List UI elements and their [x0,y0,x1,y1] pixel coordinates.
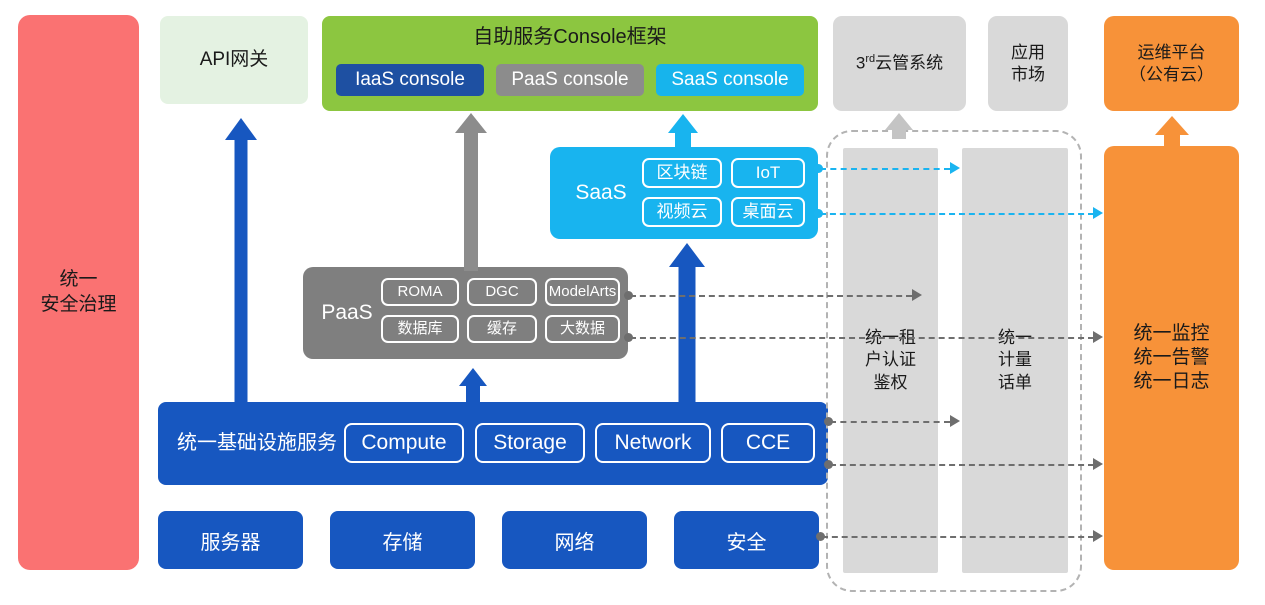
saas-service-iot[interactable]: IoT [731,158,805,188]
arrow-paas-to-console-frame [455,113,487,271]
resource-box-security[interactable]: 安全 [674,511,819,569]
resource-box-server[interactable]: 服务器 [158,511,303,569]
third-party-cloud-label: 3rd云管系统 [856,52,943,74]
connector-line-resources-to-monitoring [822,536,1094,538]
infra-service-network[interactable]: Network [595,423,711,463]
paas-service-dgc[interactable]: DGC [467,278,537,306]
iaas-console-chip[interactable]: IaaS console [336,64,484,96]
infra-service-compute[interactable]: Compute [344,423,464,463]
arrow-monitoring-to-ops-platform [1155,116,1189,148]
api-gateway-box[interactable]: API网关 [160,16,308,104]
infra-service-storage[interactable]: Storage [475,423,585,463]
paas-console-chip[interactable]: PaaS console [496,64,644,96]
infra-service-cce[interactable]: CCE [721,423,815,463]
unified-tenant-auth-column[interactable]: 统一租 户认证 鉴权 [843,148,938,573]
unified-metering-billing-column[interactable]: 统一 计量 话单 [962,148,1068,573]
unified-infrastructure-label: 统一基础设施服务 [176,402,338,485]
connector-line-saas-to-monitoring [820,213,1094,215]
saas-service-blockchain[interactable]: 区块链 [642,158,722,188]
arrow-saas-to-console-frame [668,114,698,152]
arrow-shared-services-to-third-party-cloud [885,113,913,139]
unified-infrastructure-service-box[interactable]: 统一基础设施服务 Compute Storage Network CCE [158,402,828,485]
saas-layer-label: SaaS [562,147,640,239]
resource-box-network[interactable]: 网络 [502,511,647,569]
paas-service-database[interactable]: 数据库 [381,315,459,343]
connector-arrowhead-infra-to-monitoring [1093,458,1103,470]
saas-layer-box[interactable]: SaaS 区块链 IoT 视频云 桌面云 [550,147,818,239]
console-frame-title: 自助服务Console框架 [322,25,818,51]
paas-service-cache[interactable]: 缓存 [467,315,537,343]
saas-service-video-cloud[interactable]: 视频云 [642,197,722,227]
application-market-box[interactable]: 应用 市场 [988,16,1068,111]
connector-arrowhead-paas-to-auth [912,289,922,301]
paas-layer-box[interactable]: PaaS ROMA DGC ModelArts 数据库 缓存 大数据 [303,267,628,359]
arrow-infra-to-paas [459,368,487,408]
paas-service-modelarts[interactable]: ModelArts [545,278,620,306]
unified-security-governance-box[interactable]: 统一 安全治理 [18,15,139,570]
paas-service-roma[interactable]: ROMA [381,278,459,306]
arrow-infra-to-saas [669,243,705,407]
connector-arrowhead-saas-to-monitoring [1093,207,1103,219]
connector-arrowhead-saas-to-metering [950,162,960,174]
unified-monitoring-box[interactable]: 统一监控 统一告警 统一日志 [1104,146,1239,570]
self-service-console-frame[interactable]: 自助服务Console框架 IaaS console PaaS console … [322,16,818,111]
paas-layer-label: PaaS [311,267,383,359]
connector-arrowhead-infra-to-auth [950,415,960,427]
saas-service-desktop-cloud[interactable]: 桌面云 [731,197,805,227]
connector-line-saas-to-metering [820,168,950,170]
architecture-diagram-canvas: 统一 安全治理 API网关 自助服务Console框架 IaaS console… [0,0,1265,605]
ops-platform-public-cloud-box[interactable]: 运维平台 （公有云） [1104,16,1239,111]
connector-line-infra-to-monitoring [830,464,1094,466]
saas-console-chip[interactable]: SaaS console [656,64,804,96]
third-party-cloud-management-box[interactable]: 3rd云管系统 [833,16,966,111]
connector-arrowhead-paas-to-monitoring [1093,331,1103,343]
connector-line-infra-to-auth [830,421,950,423]
ordinal-superscript: rd [865,53,875,65]
connector-arrowhead-resources-to-monitoring [1093,530,1103,542]
paas-service-bigdata[interactable]: 大数据 [545,315,620,343]
arrow-infra-to-api-gateway [225,118,257,406]
resource-box-storage[interactable]: 存储 [330,511,475,569]
connector-line-paas-to-monitoring [630,337,1094,339]
connector-line-paas-to-auth [630,295,912,297]
